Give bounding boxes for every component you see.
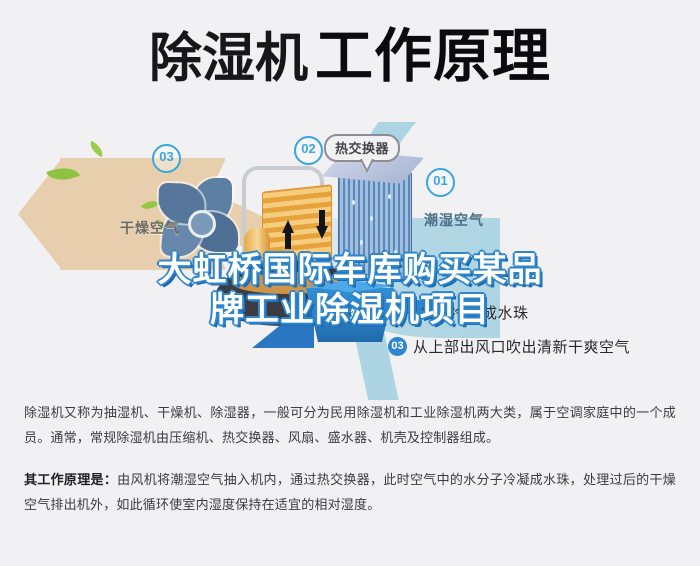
principle-lead-in: 其工作原理是： bbox=[24, 472, 117, 487]
water-droplet-icon bbox=[352, 200, 355, 205]
heat-exchanger-callout: 热交换器 bbox=[324, 134, 400, 162]
step-3-description: 从上部出风口吹出清新干爽空气 bbox=[413, 336, 630, 357]
step-badge-03: 03 bbox=[152, 144, 181, 173]
water-droplet-icon bbox=[370, 216, 373, 221]
step-badge-01: 01 bbox=[426, 168, 455, 197]
title-part-principle: 工作原理 bbox=[315, 24, 551, 89]
flow-arrow-down-icon bbox=[316, 226, 328, 239]
step-3-note: 03 从上部出风口吹出清新干爽空气 bbox=[388, 336, 630, 357]
humid-air-label: 潮湿空气 bbox=[424, 210, 484, 230]
dry-air-label: 干燥空气 bbox=[120, 218, 180, 238]
diagram-stage: 水箱 03 02 01 干燥空气 潮湿空气 热交换器 发器冷凝成水珠 03 从上… bbox=[0, 122, 700, 400]
heat-exchanger-graphic bbox=[330, 154, 422, 282]
title-part-product: 除湿机 bbox=[149, 29, 308, 88]
leaf-icon bbox=[87, 141, 107, 158]
condensation-note: 发器冷凝成水珠 bbox=[420, 302, 529, 323]
paragraph-definition: 除湿机又称为抽湿机、干燥机、除湿器，一般可分为民用除湿机和工业除湿机两大类，属于… bbox=[24, 400, 676, 451]
body-copy: 除湿机又称为抽湿机、干燥机、除湿器，一般可分为民用除湿机和工业除湿机两大类，属于… bbox=[0, 400, 700, 517]
water-droplet-icon bbox=[394, 250, 397, 255]
flow-arrow-up-icon bbox=[282, 220, 294, 233]
title-band: 除湿机工作原理 bbox=[0, 0, 700, 122]
step-badge-03-filled: 03 bbox=[388, 337, 407, 356]
step-badge-02: 02 bbox=[294, 136, 323, 165]
paragraph-principle: 其工作原理是：由风机将潮湿空气抽入机内，通过热交换器，此时空气中的水分子冷凝成水… bbox=[24, 467, 676, 518]
page-title: 除湿机工作原理 bbox=[0, 28, 700, 86]
fan-hub bbox=[188, 210, 216, 238]
water-droplet-icon bbox=[360, 240, 363, 245]
principle-body: 由风机将潮湿空气抽入机内，通过热交换器，此时空气中的水分子冷凝成水珠，处理过后的… bbox=[24, 472, 676, 512]
fan-graphic bbox=[152, 166, 248, 262]
water-droplet-icon bbox=[388, 194, 391, 199]
dehumidifier-principle-infographic: 除湿机工作原理 bbox=[0, 0, 700, 566]
